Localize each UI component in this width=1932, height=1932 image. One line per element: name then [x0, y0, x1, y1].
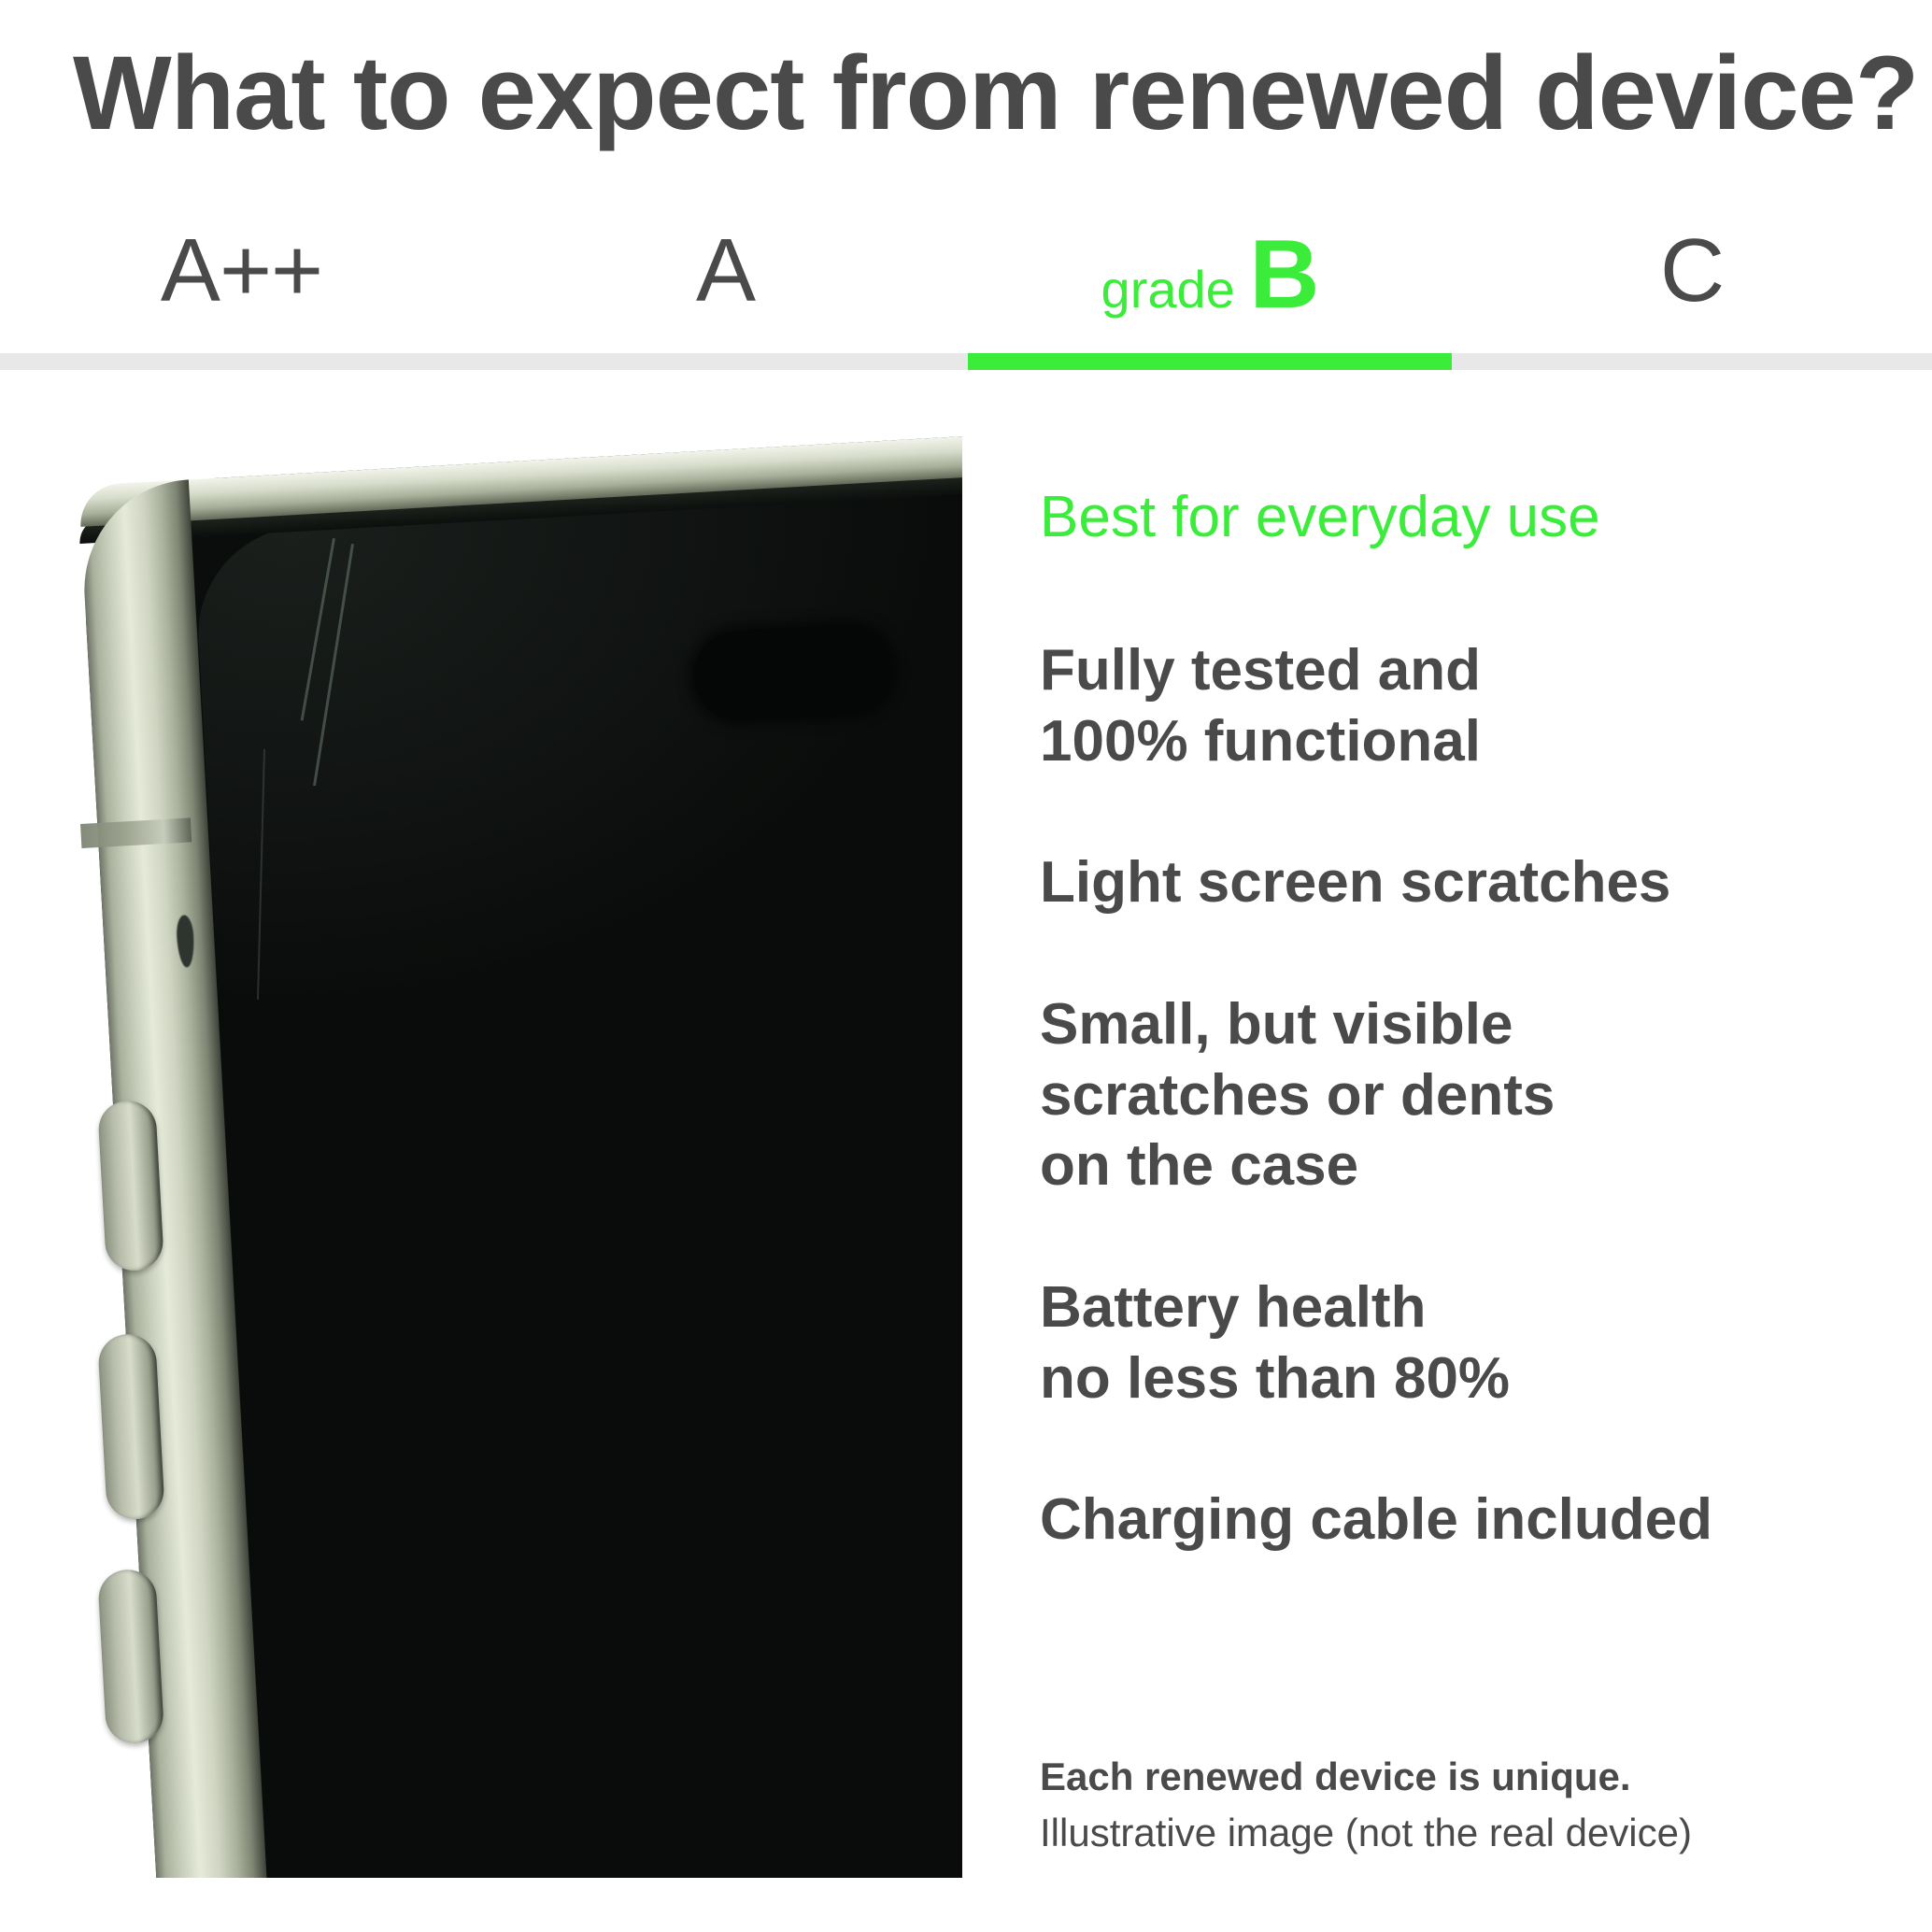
- tab-active-indicator: [968, 353, 1452, 370]
- tab-grade-c-label: C: [1452, 226, 1932, 316]
- action-button-icon: [97, 1569, 164, 1745]
- feature-line: Fully tested and: [1040, 635, 1899, 706]
- feature-line: 100% functional: [1040, 706, 1899, 777]
- feature-line: no less than 80%: [1040, 1343, 1899, 1414]
- tab-grade-b-label: grade B: [968, 226, 1452, 323]
- tab-grade-c-letter: C: [1660, 220, 1724, 320]
- tab-grade-b-letter: B: [1249, 220, 1318, 329]
- phone-illustration: [0, 392, 962, 1878]
- tab-grade-c[interactable]: C: [1452, 220, 1932, 370]
- feature-item-case-scratches: Small, but visible scratches or dents on…: [1040, 989, 1899, 1201]
- feature-item-battery-health: Battery health no less than 80%: [1040, 1272, 1899, 1413]
- disclaimer-line-illustrative: Illustrative image (not the real device): [1040, 1805, 1918, 1861]
- feature-line: scratches or dents: [1040, 1060, 1899, 1131]
- page-title: What to expect from renewed device?: [73, 36, 1918, 150]
- tab-grade-a-plus-plus[interactable]: A++: [0, 220, 483, 370]
- feature-line: Light screen scratches: [1040, 847, 1899, 918]
- feature-line: Small, but visible: [1040, 989, 1899, 1060]
- grade-tab-bar: A++ A grade B C: [0, 220, 1932, 370]
- feature-line: Charging cable included: [1040, 1485, 1899, 1556]
- tab-grade-a-letter: A: [696, 220, 755, 320]
- tab-grade-a-plus-plus-letter: A++: [161, 220, 322, 320]
- volume-down-button-icon: [97, 1333, 165, 1521]
- volume-up-button-icon: [97, 1100, 164, 1272]
- tab-grade-a-label: A: [483, 226, 968, 316]
- grade-detail-panel: Best for everyday use Fully tested and 1…: [1040, 486, 1899, 1627]
- best-for-tagline: Best for everyday use: [1040, 486, 1899, 549]
- feature-line: Battery health: [1040, 1272, 1899, 1343]
- feature-item-charging-cable: Charging cable included: [1040, 1485, 1899, 1556]
- tab-grade-b-prefix: grade: [1101, 260, 1250, 319]
- feature-line: on the case: [1040, 1130, 1899, 1201]
- feature-item-screen-scratches: Light screen scratches: [1040, 847, 1899, 918]
- tab-baseline-divider: [0, 353, 1932, 370]
- disclaimer-text: Each renewed device is unique. Illustrat…: [1040, 1749, 1918, 1860]
- tab-grade-a[interactable]: A: [483, 220, 968, 370]
- feature-item-tested: Fully tested and 100% functional: [1040, 635, 1899, 776]
- disclaimer-line-unique: Each renewed device is unique.: [1040, 1749, 1918, 1805]
- tab-grade-a-plus-plus-label: A++: [0, 226, 483, 316]
- tab-grade-b[interactable]: grade B: [968, 220, 1452, 370]
- dynamic-island-icon: [691, 622, 894, 723]
